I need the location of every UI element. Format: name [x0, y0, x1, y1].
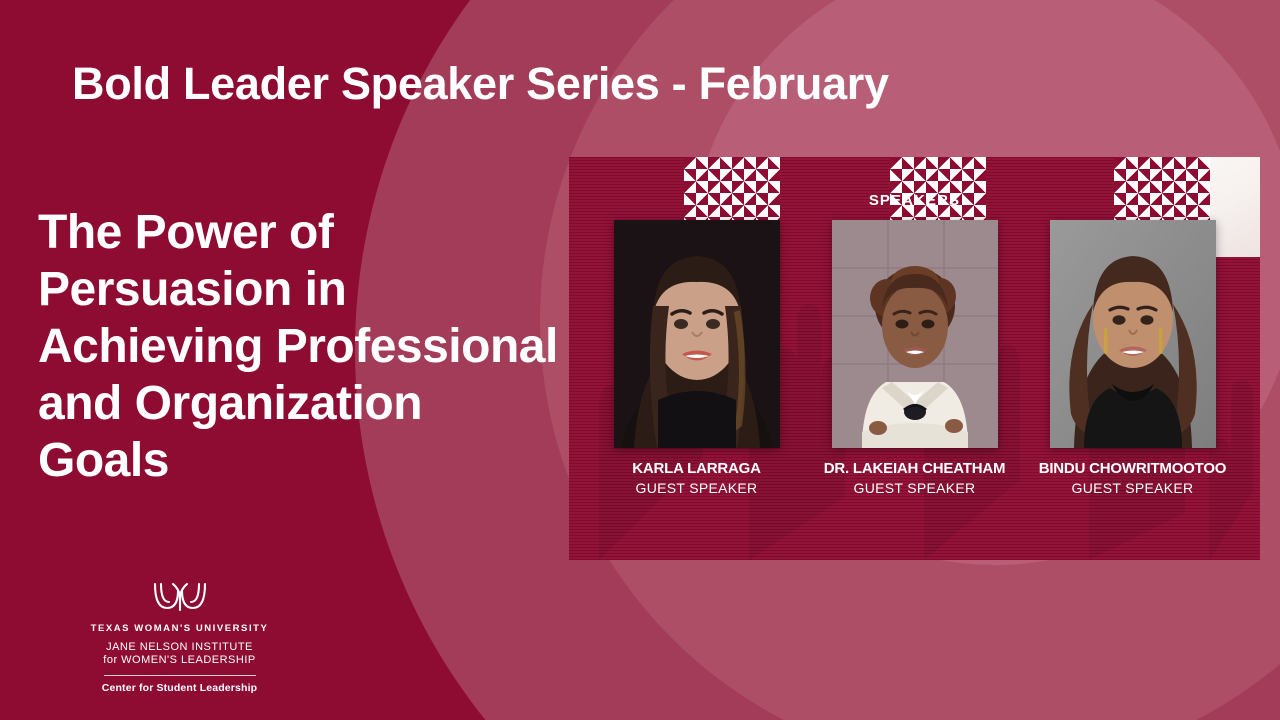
speaker-photo-bindu-chowritmootoo: [1050, 220, 1216, 448]
logo-institute-name: JANE NELSON INSTITUTE for WOMEN'S LEADER…: [62, 641, 297, 668]
speaker-card: DR. LAKEIAH CHEATHAM GUEST SPEAKER: [810, 220, 1020, 496]
speaker-role: GUEST SPEAKER: [1072, 480, 1194, 496]
speaker-role: GUEST SPEAKER: [636, 480, 758, 496]
speakers-heading: SPEAKERS: [569, 192, 1260, 209]
speaker-card: BINDU CHOWRITMOOTOO GUEST SPEAKER: [1028, 220, 1238, 496]
speaker-role: GUEST SPEAKER: [854, 480, 976, 496]
speaker-card-list: KARLA LARRAGA GUEST SPEAKER: [569, 220, 1260, 496]
series-title: Bold Leader Speaker Series - February: [72, 58, 889, 110]
logo-center-name: Center for Student Leadership: [62, 682, 297, 694]
logo-institute-line-1: JANE NELSON INSTITUTE: [62, 641, 297, 654]
twu-lotus-mark: [149, 580, 211, 614]
speaker-photo-karla-larraga: [614, 220, 780, 448]
logo-institute-line-2: for WOMEN'S LEADERSHIP: [62, 654, 297, 667]
speaker-photo-dr-lakeiah-cheatham: [832, 220, 998, 448]
speaker-card: KARLA LARRAGA GUEST SPEAKER: [592, 220, 802, 496]
speakers-panel: SPEAKERS: [569, 157, 1260, 560]
speaker-name: BINDU CHOWRITMOOTOO: [1039, 460, 1227, 477]
speaker-name: KARLA LARRAGA: [632, 460, 761, 477]
logo-university-name: TEXAS WOMAN'S UNIVERSITY: [62, 623, 297, 634]
speaker-name: DR. LAKEIAH CHEATHAM: [824, 460, 1006, 477]
page-title: The Power of Persuasion in Achieving Pro…: [38, 204, 558, 490]
logo-divider: [104, 675, 256, 676]
twu-logo-lockup: TEXAS WOMAN'S UNIVERSITY JANE NELSON INS…: [62, 580, 297, 694]
